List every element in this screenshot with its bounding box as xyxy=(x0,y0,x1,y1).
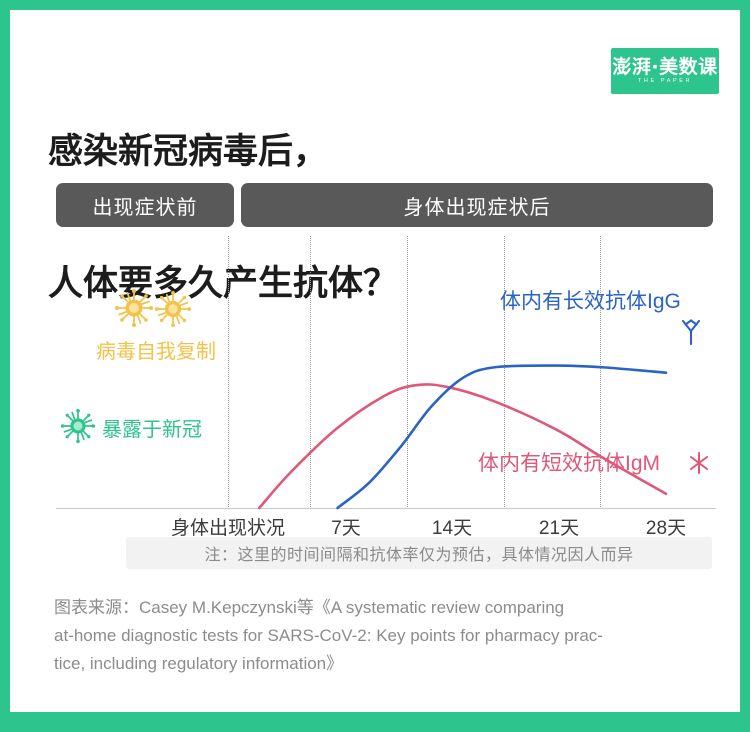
phase-bar-post-symptom: 身体出现症状后 xyxy=(241,183,713,227)
brand-logo: 澎湃·美数课 THE PAPER xyxy=(611,48,719,94)
igg-curve-label: 体内有长效抗体IgG xyxy=(500,285,681,315)
x-tick-label-0: 身体出现状况 xyxy=(171,513,285,540)
x-tick-label-7: 7天 xyxy=(331,513,361,540)
infographic-card: 感染新冠病毒后， 人体要多久产生抗体？ 澎湃·美数课 THE PAPER 出现症… xyxy=(10,10,740,712)
source-line-3: tice, including regulatory information》 xyxy=(54,650,714,678)
virus-replication-label: 病毒自我复制 xyxy=(96,335,216,364)
virus-icon xyxy=(154,290,192,328)
igm-curve-label: 体内有短效抗体IgM xyxy=(478,447,660,477)
phase-bar-pre-symptom: 出现症状前 xyxy=(56,183,234,227)
logo-subtext: THE PAPER xyxy=(611,78,719,84)
x-tick-label-28: 28天 xyxy=(646,513,686,540)
virus-exposure-label: 暴露于新冠 xyxy=(102,413,202,442)
source-citation: 图表来源：Casey M.Kepczynski等《A systematic re… xyxy=(54,594,714,678)
x-tick-label-14: 14天 xyxy=(432,513,472,540)
source-line-1: 图表来源：Casey M.Kepczynski等《A systematic re… xyxy=(54,594,714,622)
gridline-day-7 xyxy=(310,236,311,507)
source-line-2: at-home diagnostic tests for SARS-CoV-2:… xyxy=(54,622,714,650)
antibody-y-icon xyxy=(678,317,704,347)
title-line-1: 感染新冠病毒后， xyxy=(48,130,398,174)
x-axis-line xyxy=(56,508,716,509)
gridline-day-14 xyxy=(407,236,408,507)
logo-text: 澎湃·美数课 xyxy=(611,52,719,79)
x-tick-label-21: 21天 xyxy=(539,513,579,540)
chart-note: 注：这里的时间间隔和抗体率仅为预估，具体情况因人而异 xyxy=(126,537,712,569)
gridline-day-0 xyxy=(228,236,229,507)
asterisk-icon xyxy=(686,450,712,476)
virus-icon xyxy=(114,288,154,328)
virus-icon xyxy=(60,408,96,444)
